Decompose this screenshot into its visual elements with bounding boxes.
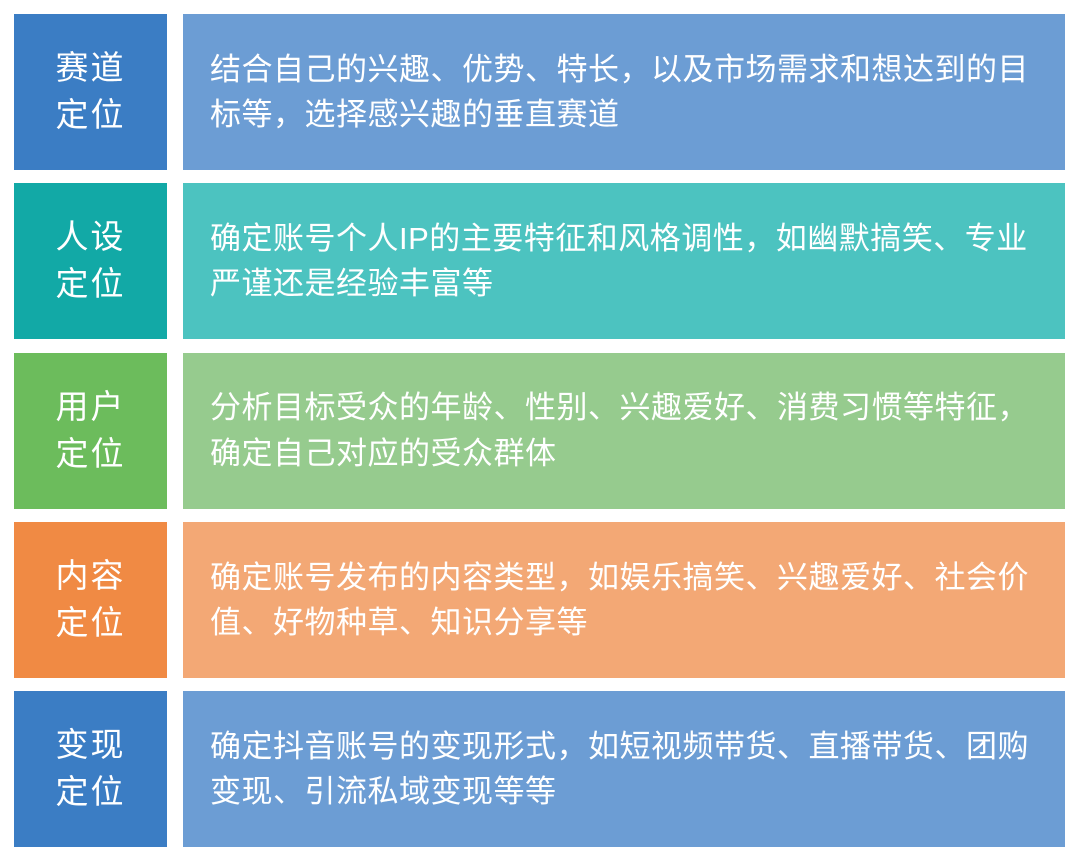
positioning-row: 用户 定位 分析目标受众的年龄、性别、兴趣爱好、消费习惯等特征，确定自己对应的受…	[14, 353, 1065, 509]
row-content-text: 确定账号个人IP的主要特征和风格调性，如幽默搞笑、专业严谨还是经验丰富等	[210, 216, 1037, 307]
row-content-text: 确定账号发布的内容类型，如娱乐搞笑、兴趣爱好、社会价值、好物种草、知识分享等	[210, 555, 1037, 646]
row-content-user-positioning[interactable]: 分析目标受众的年龄、性别、兴趣爱好、消费习惯等特征，确定自己对应的受众群体	[183, 353, 1065, 509]
positioning-board: 赛道 定位 结合自己的兴趣、优势、特长，以及市场需求和想达到的目标等，选择感兴趣…	[0, 0, 1080, 864]
positioning-row: 变现 定位 确定抖音账号的变现形式，如短视频带货、直播带货、团购变现、引流私域变…	[14, 691, 1065, 847]
row-gutter	[167, 14, 183, 170]
row-content-persona-positioning[interactable]: 确定账号个人IP的主要特征和风格调性，如幽默搞笑、专业严谨还是经验丰富等	[183, 183, 1065, 339]
row-gutter	[167, 353, 183, 509]
row-content-text: 结合自己的兴趣、优势、特长，以及市场需求和想达到的目标等，选择感兴趣的垂直赛道	[210, 47, 1037, 138]
row-label-user-positioning[interactable]: 用户 定位	[14, 353, 167, 509]
row-label-content-positioning[interactable]: 内容 定位	[14, 522, 167, 678]
row-gutter	[167, 183, 183, 339]
positioning-row: 内容 定位 确定账号发布的内容类型，如娱乐搞笑、兴趣爱好、社会价值、好物种草、知…	[14, 522, 1065, 678]
positioning-row: 人设 定位 确定账号个人IP的主要特征和风格调性，如幽默搞笑、专业严谨还是经验丰…	[14, 183, 1065, 339]
row-content-text: 确定抖音账号的变现形式，如短视频带货、直播带货、团购变现、引流私域变现等等	[210, 724, 1037, 815]
row-label-monetization-positioning[interactable]: 变现 定位	[14, 691, 167, 847]
row-label-persona-positioning[interactable]: 人设 定位	[14, 183, 167, 339]
row-gutter	[167, 522, 183, 678]
row-content-text: 分析目标受众的年龄、性别、兴趣爱好、消费习惯等特征，确定自己对应的受众群体	[210, 385, 1037, 476]
row-content-content-positioning[interactable]: 确定账号发布的内容类型，如娱乐搞笑、兴趣爱好、社会价值、好物种草、知识分享等	[183, 522, 1065, 678]
row-content-monetization-positioning[interactable]: 确定抖音账号的变现形式，如短视频带货、直播带货、团购变现、引流私域变现等等	[183, 691, 1065, 847]
row-label-track-positioning[interactable]: 赛道 定位	[14, 14, 167, 170]
positioning-row: 赛道 定位 结合自己的兴趣、优势、特长，以及市场需求和想达到的目标等，选择感兴趣…	[14, 14, 1065, 170]
row-gutter	[167, 691, 183, 847]
row-content-track-positioning[interactable]: 结合自己的兴趣、优势、特长，以及市场需求和想达到的目标等，选择感兴趣的垂直赛道	[183, 14, 1065, 170]
